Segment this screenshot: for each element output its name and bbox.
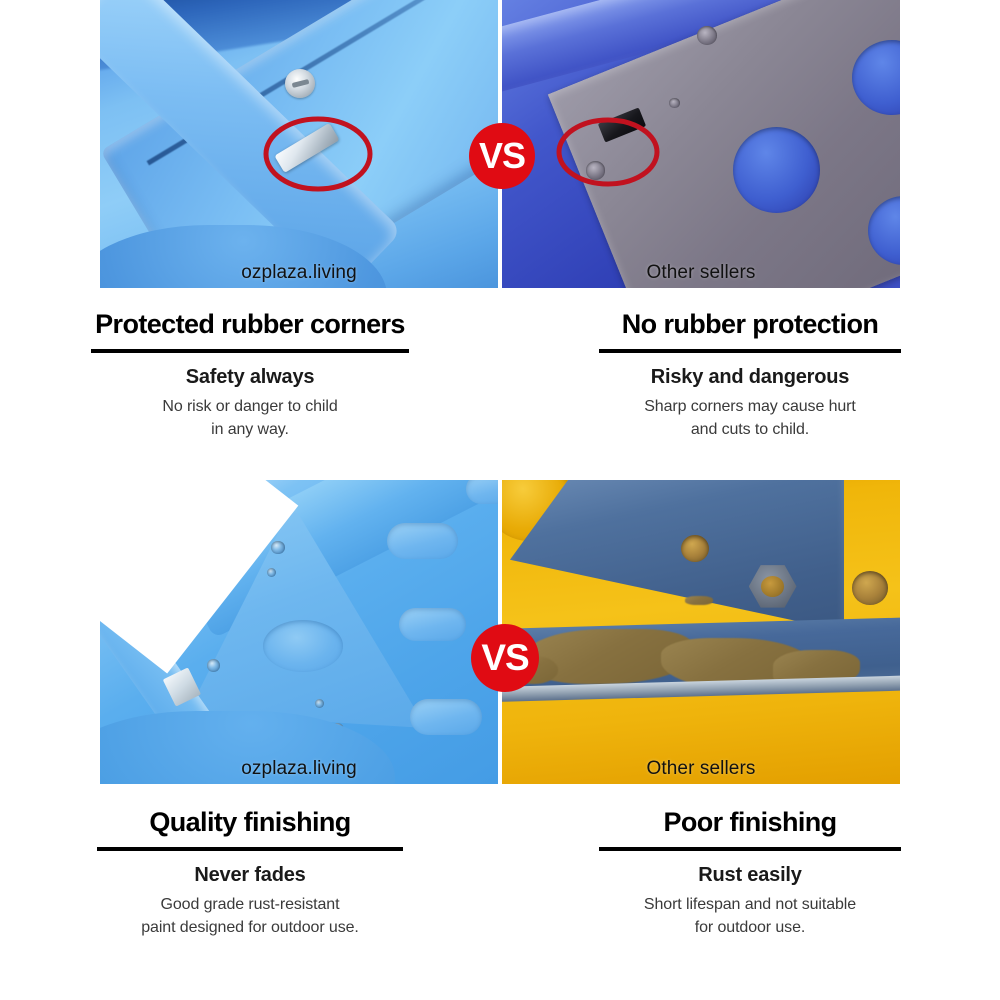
vs-badge-bottom: VS [471,624,539,692]
blue-table-corner-with-rubber-protector-photo: ozplaza.living [100,0,498,288]
description-line-1: No risk or danger to child [20,396,480,419]
comparison-block-protected-rubber-corners: ozplaza.living Protected rubber corners … [0,0,500,480]
block-description: No risk or danger to child in any way. [20,396,480,441]
vs-badge-label: VS [479,135,525,177]
infographic-canvas: ozplaza.living Protected rubber corners … [0,0,1000,1000]
red-ellipse-highlight-icon [552,112,664,192]
yellow-table-rusted-bracket-photo: Other sellers [502,480,900,784]
description-line-2: and cuts to child. [520,419,980,442]
caption-quality-finishing: Quality finishing Never fades Good grade… [20,808,480,940]
description-line-2: in any way. [20,419,480,442]
description-line-1: Short lifespan and not suitable [520,894,980,917]
block-subhead: Never fades [20,864,480,887]
block-heading: Quality finishing [20,808,480,836]
description-line-2: paint designed for outdoor use. [20,917,480,940]
photo-watermark: Other sellers [502,758,900,780]
heading-rule [91,349,409,353]
blue-painted-bracket-clean-finish-photo: ozplaza.living [100,480,498,784]
description-line-2: for outdoor use. [520,917,980,940]
block-subhead: Rust easily [520,864,980,887]
heading-rule [599,349,901,353]
blue-table-sharp-metal-corner-photo: Other sellers [502,0,900,288]
red-ellipse-highlight-icon [258,110,378,198]
photo-watermark: ozplaza.living [100,262,498,284]
vs-badge-label: VS [481,637,528,679]
description-line-1: Good grade rust-resistant [20,894,480,917]
comparison-block-poor-finishing: Other sellers Poor finishing Rust easily… [500,480,1000,1000]
caption-poor-finishing: Poor finishing Rust easily Short lifespa… [520,808,980,940]
comparison-block-quality-finishing: ozplaza.living Quality finishing Never f… [0,480,500,1000]
block-heading: Poor finishing [520,808,980,836]
block-heading: No rubber protection [520,310,980,338]
heading-rule [599,847,901,851]
block-subhead: Safety always [20,366,480,389]
photo-watermark: Other sellers [502,262,900,284]
photo-watermark: ozplaza.living [100,758,498,780]
description-line-1: Sharp corners may cause hurt [520,396,980,419]
comparison-block-no-rubber-protection: Other sellers No rubber protection Risky… [500,0,1000,480]
caption-protected-rubber-corners: Protected rubber corners Safety always N… [20,310,480,442]
block-subhead: Risky and dangerous [520,366,980,389]
block-description: Good grade rust-resistant paint designed… [20,894,480,939]
block-description: Sharp corners may cause hurt and cuts to… [520,396,980,441]
block-description: Short lifespan and not suitable for outd… [520,894,980,939]
heading-rule [97,847,403,851]
caption-no-rubber-protection: No rubber protection Risky and dangerous… [520,310,980,442]
block-heading: Protected rubber corners [20,310,480,338]
vs-badge-top: VS [469,123,535,189]
